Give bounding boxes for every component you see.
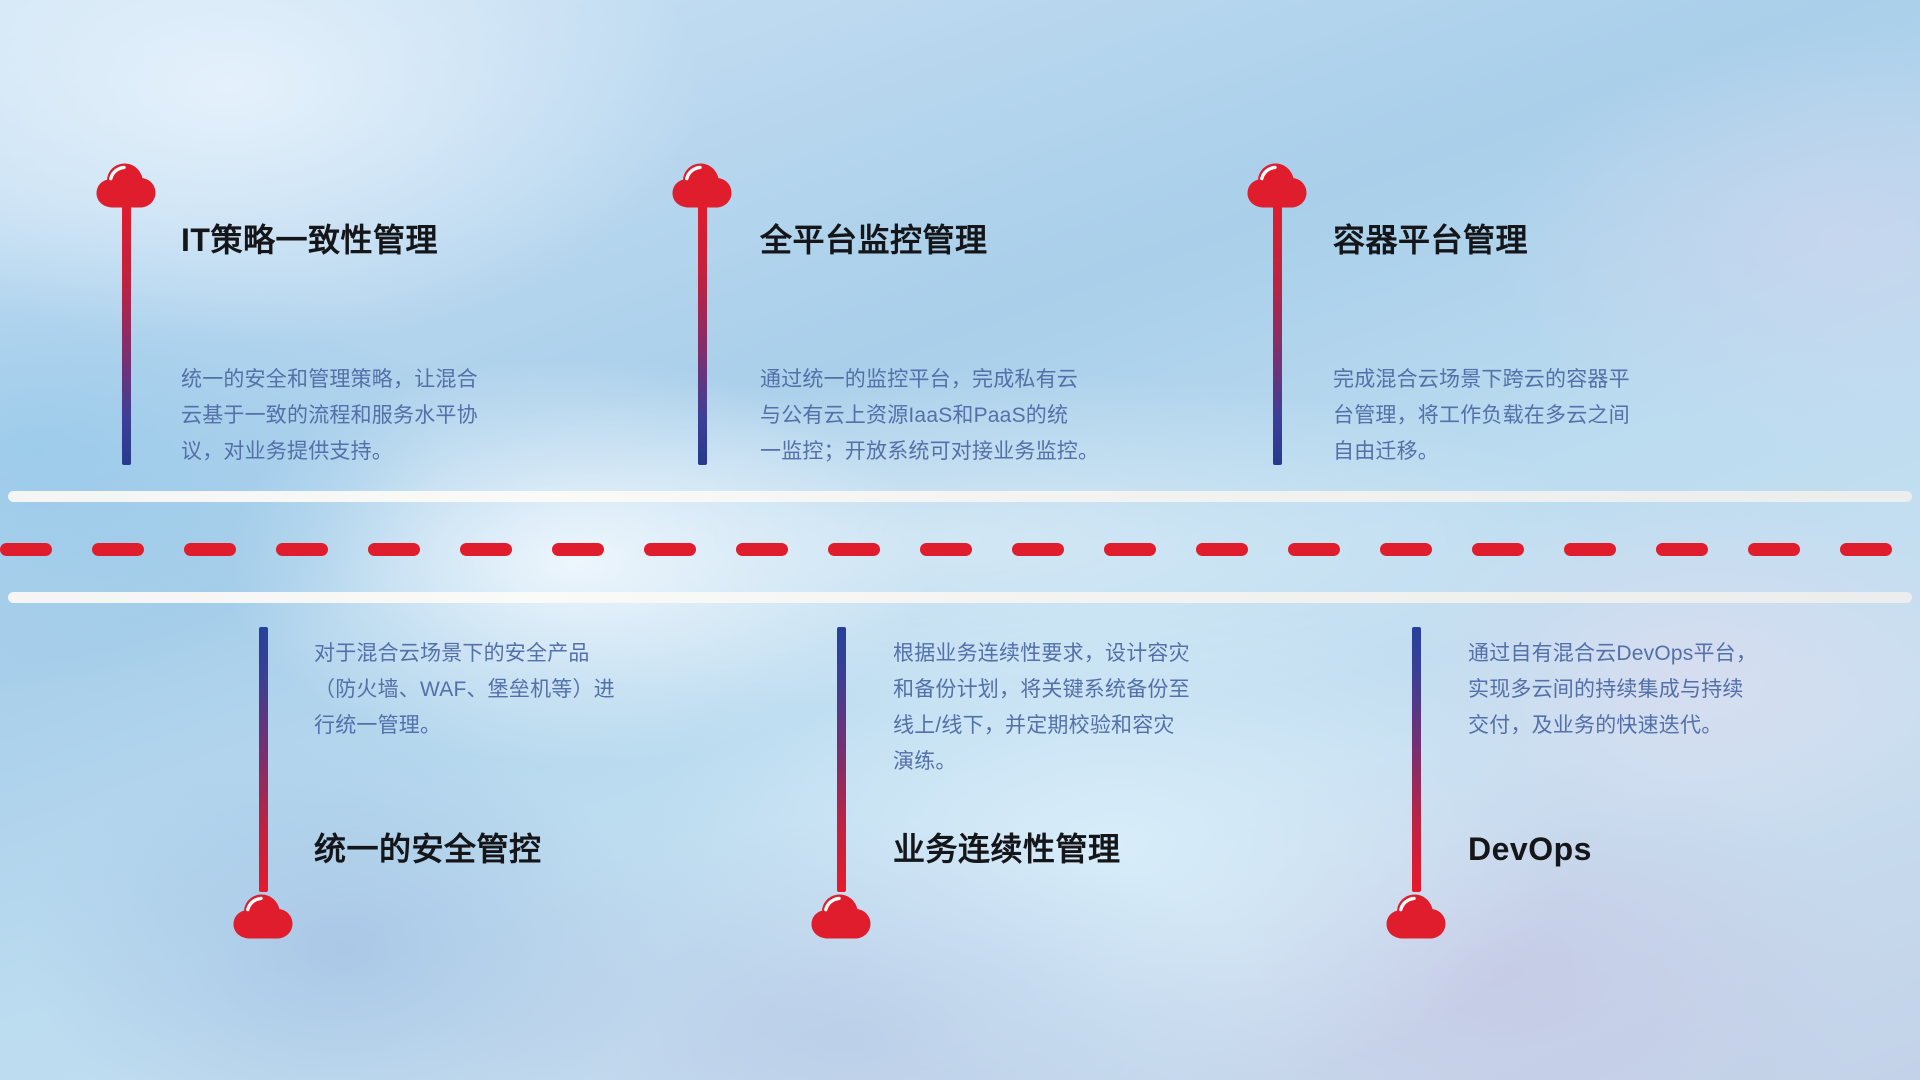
body-line: 自由迁移。 — [1333, 434, 1783, 470]
top-card-1-heading: IT策略一致性管理 — [181, 224, 438, 256]
body-line: 台管理，将工作负载在多云之间 — [1333, 398, 1783, 434]
bottom-card-3-body: 通过自有混合云DevOps平台， 实现多云间的持续集成与持续 交付，及业务的快速… — [1468, 636, 1888, 744]
body-line: 演练。 — [893, 744, 1323, 780]
connector-stem — [1273, 205, 1282, 465]
divider-dash — [1380, 543, 1432, 556]
bottom-card-2-body: 根据业务连续性要求，设计容灾 和备份计划，将关键系统备份至 线上/线下，并定期校… — [893, 636, 1323, 780]
cloud-icon — [233, 893, 295, 939]
body-line: 完成混合云场景下跨云的容器平 — [1333, 362, 1783, 398]
cloud-icon — [1386, 893, 1448, 939]
divider-dash — [92, 543, 144, 556]
cloud-icon — [672, 162, 734, 208]
divider-dash — [276, 543, 328, 556]
divider-dash — [1472, 543, 1524, 556]
body-line: （防火墙、WAF、堡垒机等）进 — [314, 672, 744, 708]
divider-dash — [1012, 543, 1064, 556]
top-card-3-heading: 容器平台管理 — [1333, 224, 1528, 256]
divider-dash — [736, 543, 788, 556]
cloud-icon — [96, 162, 158, 208]
divider-dash — [644, 543, 696, 556]
infographic-canvas: IT策略一致性管理 统一的安全和管理策略，让混合 云基于一致的流程和服务水平协 … — [0, 0, 1920, 1080]
bottom-card-1-body: 对于混合云场景下的安全产品 （防火墙、WAF、堡垒机等）进 行统一管理。 — [314, 636, 744, 744]
divider-dash — [1840, 543, 1892, 556]
divider-dash — [1288, 543, 1340, 556]
top-card-3-body: 完成混合云场景下跨云的容器平 台管理，将工作负载在多云之间 自由迁移。 — [1333, 362, 1783, 470]
divider-dash — [1748, 543, 1800, 556]
cloud-icon — [811, 893, 873, 939]
body-line: 云基于一致的流程和服务水平协 — [181, 398, 611, 434]
cloud-icon — [1247, 162, 1309, 208]
connector-stem — [698, 205, 707, 465]
body-line: 与公有云上资源IaaS和PaaS的统 — [760, 398, 1220, 434]
divider-dash — [1196, 543, 1248, 556]
divider-dashed-line — [0, 543, 1920, 556]
connector-stem — [122, 205, 131, 465]
connector-stem — [837, 627, 846, 892]
divider-dash — [1656, 543, 1708, 556]
divider-dash — [184, 543, 236, 556]
divider-dash — [1104, 543, 1156, 556]
body-line: 交付，及业务的快速迭代。 — [1468, 708, 1888, 744]
top-card-2-body: 通过统一的监控平台，完成私有云 与公有云上资源IaaS和PaaS的统 一监控；开… — [760, 362, 1220, 470]
body-line: 行统一管理。 — [314, 708, 744, 744]
divider-dash — [828, 543, 880, 556]
divider-dash — [368, 543, 420, 556]
body-line: 议，对业务提供支持。 — [181, 434, 611, 470]
top-card-1-body: 统一的安全和管理策略，让混合 云基于一致的流程和服务水平协 议，对业务提供支持。 — [181, 362, 611, 470]
body-line: 和备份计划，将关键系统备份至 — [893, 672, 1323, 708]
divider-dash — [552, 543, 604, 556]
body-line: 对于混合云场景下的安全产品 — [314, 636, 744, 672]
bottom-card-3-heading: DevOps — [1468, 833, 1592, 865]
divider-dash — [1564, 543, 1616, 556]
body-line: 通过自有混合云DevOps平台， — [1468, 636, 1888, 672]
top-card-2-heading: 全平台监控管理 — [760, 224, 988, 256]
connector-stem — [259, 627, 268, 892]
bottom-card-1-heading: 统一的安全管控 — [314, 833, 542, 865]
bottom-card-2-heading: 业务连续性管理 — [893, 833, 1121, 865]
divider-rail-bottom — [8, 592, 1912, 603]
body-line: 通过统一的监控平台，完成私有云 — [760, 362, 1220, 398]
divider-dash — [920, 543, 972, 556]
body-line: 实现多云间的持续集成与持续 — [1468, 672, 1888, 708]
divider-dash — [0, 543, 52, 556]
body-line: 线上/线下，并定期校验和容灾 — [893, 708, 1323, 744]
divider-rail-top — [8, 491, 1912, 502]
connector-stem — [1412, 627, 1421, 892]
body-line: 根据业务连续性要求，设计容灾 — [893, 636, 1323, 672]
divider-dash — [460, 543, 512, 556]
body-line: 统一的安全和管理策略，让混合 — [181, 362, 611, 398]
body-line: 一监控；开放系统可对接业务监控。 — [760, 434, 1220, 470]
